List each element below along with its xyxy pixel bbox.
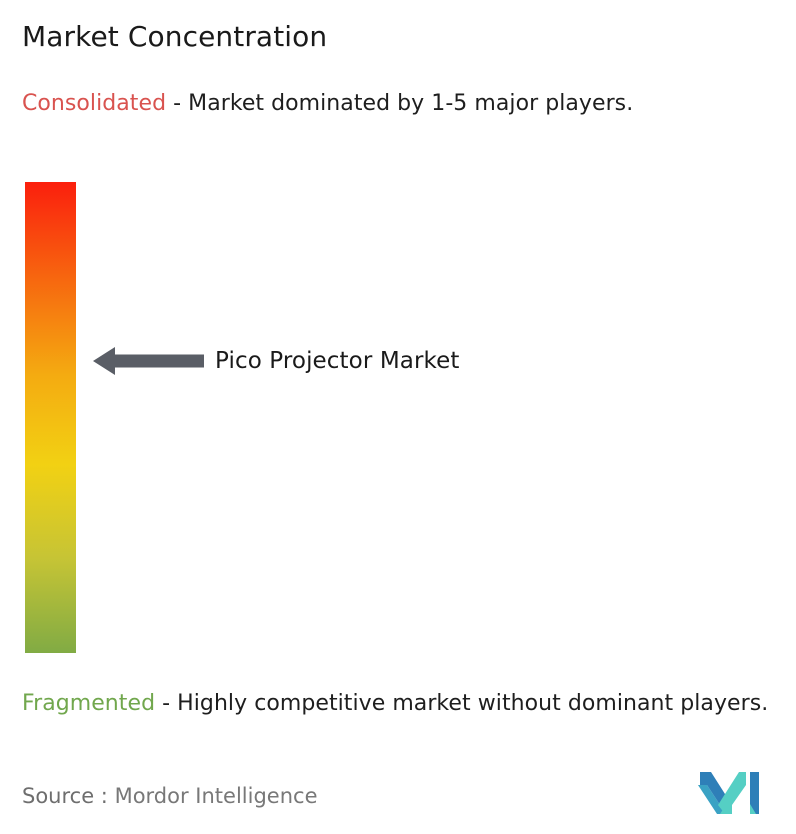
legend-consolidated-term: Consolidated <box>22 91 166 116</box>
market-concentration-gradient-bar <box>25 182 76 653</box>
source-label: Source : <box>22 784 108 808</box>
source-value: Mordor Intelligence <box>115 784 318 808</box>
legend-fragmented: Fragmented - Highly competitive market w… <box>22 688 794 719</box>
legend-fragmented-term: Fragmented <box>22 691 155 716</box>
page-title: Market Concentration <box>22 20 327 54</box>
legend-consolidated-description: - Market dominated by 1-5 major players. <box>166 91 633 116</box>
arrow-left-icon <box>93 345 204 377</box>
source-attribution: Source : Mordor Intelligence <box>22 783 317 809</box>
market-pointer: Pico Projector Market <box>93 345 459 377</box>
mordor-intelligence-logo <box>698 772 764 814</box>
market-pointer-label: Pico Projector Market <box>215 345 459 377</box>
legend-consolidated: Consolidated - Market dominated by 1-5 m… <box>22 88 782 119</box>
legend-fragmented-description: - Highly competitive market without domi… <box>155 691 768 716</box>
